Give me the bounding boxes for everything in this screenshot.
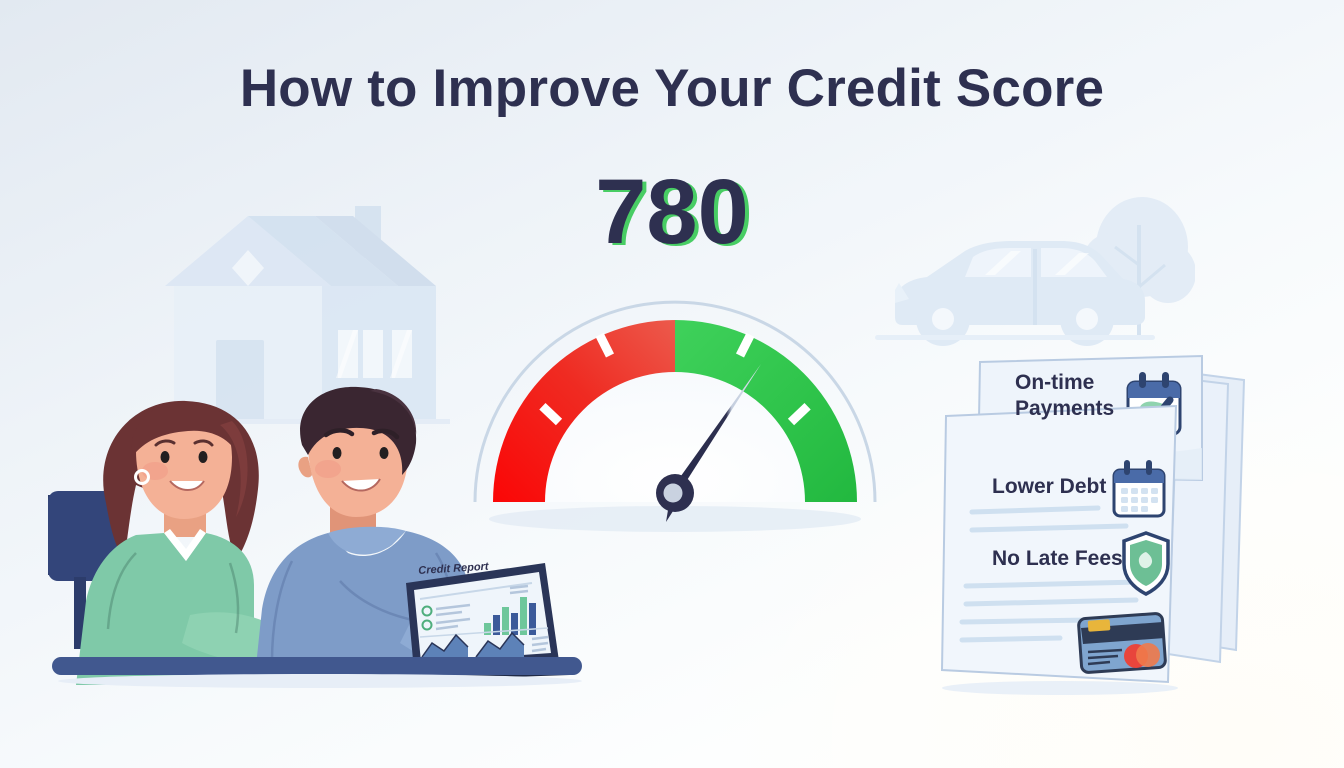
credit-card-icon xyxy=(1078,613,1166,673)
credit-score-infographic: How to Improve Your Credit Score 780 xyxy=(0,0,1344,768)
people-with-laptop-illustration xyxy=(40,385,600,695)
desk xyxy=(52,657,582,688)
documents-stack xyxy=(940,350,1260,700)
page-title: How to Improve Your Credit Score xyxy=(0,58,1344,119)
score-value: 780 xyxy=(595,166,749,258)
score-display: 780 xyxy=(0,166,1344,258)
shield-check-icon xyxy=(1124,533,1168,594)
